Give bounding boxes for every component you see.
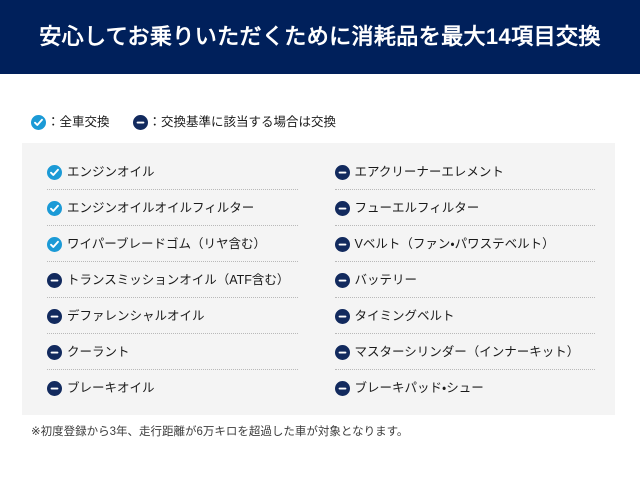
minus-circle-icon — [335, 237, 350, 252]
list-item-label: フューエルフィルター — [355, 202, 480, 215]
list-item: フューエルフィルター — [335, 190, 596, 226]
list-item: ブレーキオイル — [47, 370, 298, 406]
list-item-label: タイミングベルト — [355, 310, 455, 323]
list-item-label: トランスミッションオイル（ATF含む） — [67, 274, 289, 287]
page-title: 安心してお乗りいただくために消耗品を最大14項目交換 — [39, 26, 601, 48]
list-item: エンジンオイル — [47, 154, 298, 190]
minus-circle-icon — [335, 345, 350, 360]
minus-circle-icon — [335, 201, 350, 216]
list-item: クーラント — [47, 334, 298, 370]
footnote-text: ※初度登録から3年、走行距離が6万キロを超過した車が対象となります。 — [31, 427, 408, 439]
page-root: 安心してお乗りいただくために消耗品を最大14項目交換 ：全車交換 ：交換基準に該… — [0, 0, 640, 480]
check-circle-icon — [47, 237, 62, 252]
list-item-label: バッテリー — [355, 274, 418, 287]
header-banner: 安心してお乗りいただくために消耗品を最大14項目交換 — [0, 0, 640, 74]
items-panel: エンジンオイル エンジンオイルオイルフィルター ワイパーブレードゴム（リヤ含む）… — [22, 143, 615, 415]
list-item-label: クーラント — [67, 346, 130, 359]
minus-circle-icon — [133, 115, 148, 130]
minus-circle-icon — [47, 273, 62, 288]
check-circle-icon — [31, 115, 46, 130]
items-columns: エンジンオイル エンジンオイルオイルフィルター ワイパーブレードゴム（リヤ含む）… — [22, 143, 615, 415]
list-item: タイミングベルト — [335, 298, 596, 334]
list-item-label: ブレーキパッド・シュー — [355, 382, 484, 395]
check-circle-icon — [47, 165, 62, 180]
list-item: トランスミッションオイル（ATF含む） — [47, 262, 298, 298]
legend-item-all-vehicles: ：全車交換 — [31, 111, 110, 133]
minus-circle-icon — [47, 345, 62, 360]
minus-circle-icon — [335, 309, 350, 324]
minus-circle-icon — [47, 381, 62, 396]
minus-circle-icon — [335, 165, 350, 180]
list-item: マスターシリンダー（インナーキット） — [335, 334, 596, 370]
minus-circle-icon — [335, 381, 350, 396]
list-item: エアクリーナーエレメント — [335, 154, 596, 190]
list-item-label: エンジンオイルオイルフィルター — [67, 202, 254, 215]
list-item: バッテリー — [335, 262, 596, 298]
list-item-label: Vベルト（ファン・パワステベルト） — [355, 238, 555, 251]
list-item: Vベルト（ファン・パワステベルト） — [335, 226, 596, 262]
list-item-label: マスターシリンダー（インナーキット） — [355, 346, 580, 359]
list-item: エンジンオイルオイルフィルター — [47, 190, 298, 226]
legend-item-conditional: ：交換基準に該当する場合は交換 — [133, 111, 337, 133]
list-item: ワイパーブレードゴム（リヤ含む） — [47, 226, 298, 262]
list-item-label: ブレーキオイル — [67, 382, 155, 395]
legend-label-conditional: ：交換基準に該当する場合は交換 — [149, 116, 337, 129]
list-item: ブレーキパッド・シュー — [335, 370, 596, 406]
legend-label-all-vehicles: ：全車交換 — [47, 116, 110, 129]
items-column-right: エアクリーナーエレメント フューエルフィルター Vベルト（ファン・パワステベルト… — [319, 143, 616, 415]
legend: ：全車交換 ：交換基準に該当する場合は交換 — [31, 111, 336, 133]
list-item-label: エアクリーナーエレメント — [355, 166, 504, 179]
minus-circle-icon — [335, 273, 350, 288]
list-item: デファレンシャルオイル — [47, 298, 298, 334]
list-item-label: ワイパーブレードゴム（リヤ含む） — [67, 238, 266, 251]
minus-circle-icon — [47, 309, 62, 324]
check-circle-icon — [47, 201, 62, 216]
list-item-label: デファレンシャルオイル — [67, 310, 205, 323]
list-item-label: エンジンオイル — [67, 166, 155, 179]
items-column-left: エンジンオイル エンジンオイルオイルフィルター ワイパーブレードゴム（リヤ含む）… — [22, 143, 319, 415]
